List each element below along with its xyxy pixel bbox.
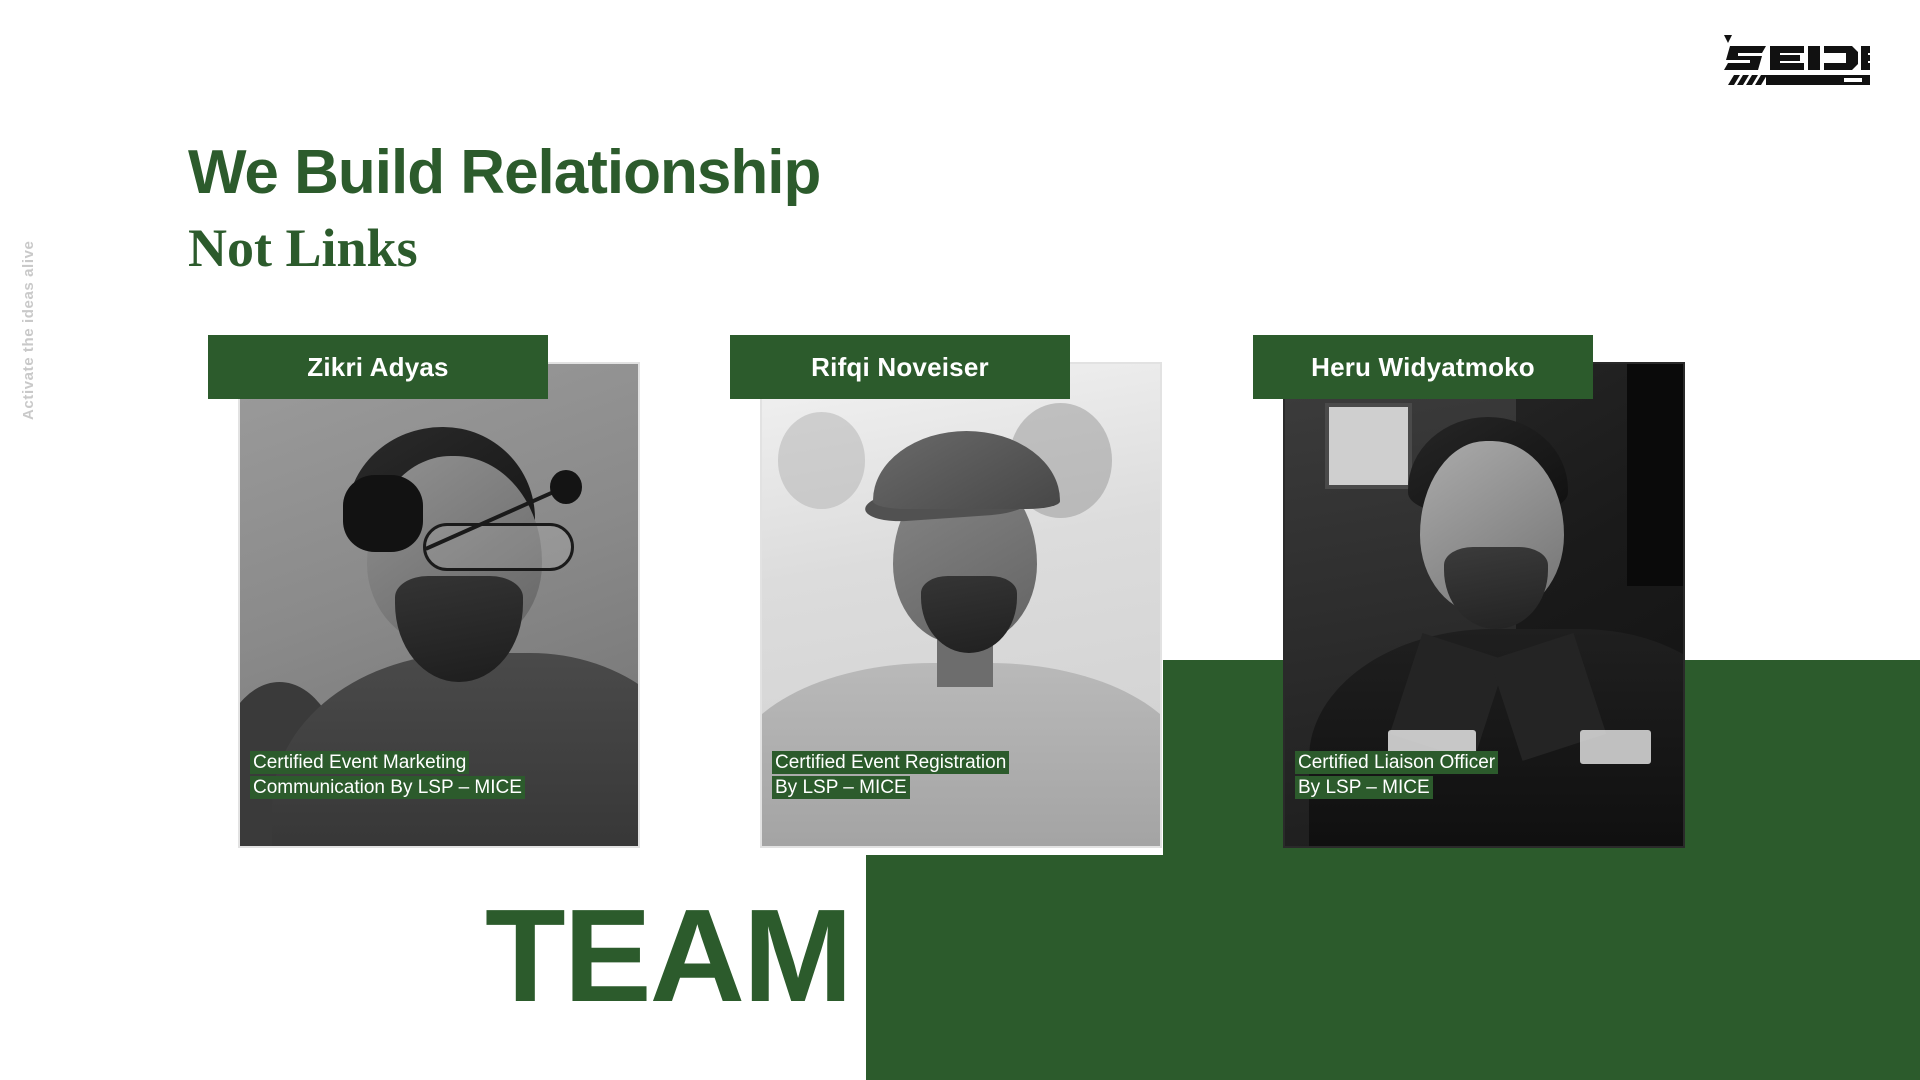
certification-line-1: Certified Liaison Officer bbox=[1295, 751, 1498, 774]
page-title: We Build Relationship bbox=[188, 140, 820, 205]
member-name-badge: Heru Widyatmoko bbox=[1253, 335, 1593, 399]
certification-line-2: By LSP – MICE bbox=[772, 776, 910, 799]
certification-line-2: Communication By LSP – MICE bbox=[250, 776, 525, 799]
vertical-tagline: Activate the ideas alive bbox=[20, 160, 37, 420]
certification-line-2: By LSP – MICE bbox=[1295, 776, 1433, 799]
member-certification: Certified Liaison Officer By LSP – MICE bbox=[1295, 750, 1498, 800]
member-photo-frame: Certified Liaison Officer By LSP – MICE bbox=[1283, 362, 1685, 848]
member-photo-frame: Certified Event Registration By LSP – MI… bbox=[760, 362, 1162, 848]
member-certification: Certified Event Marketing Communication … bbox=[250, 750, 525, 800]
page-subtitle: Not Links bbox=[188, 220, 418, 277]
certification-line-1: Certified Event Registration bbox=[772, 751, 1009, 774]
member-certification: Certified Event Registration By LSP – MI… bbox=[772, 750, 1009, 800]
member-name-badge: Zikri Adyas bbox=[208, 335, 548, 399]
slide-canvas: We Build Relationship Not Links Activate… bbox=[0, 0, 1920, 1080]
certification-line-1: Certified Event Marketing bbox=[250, 751, 469, 774]
member-name-badge: Rifqi Noveiser bbox=[730, 335, 1070, 399]
seide-logo bbox=[1718, 32, 1870, 90]
member-photo-frame: Certified Event Marketing Communication … bbox=[238, 362, 640, 848]
section-word-team: TEAM bbox=[485, 890, 851, 1022]
green-shape-bottom bbox=[866, 855, 1920, 1080]
